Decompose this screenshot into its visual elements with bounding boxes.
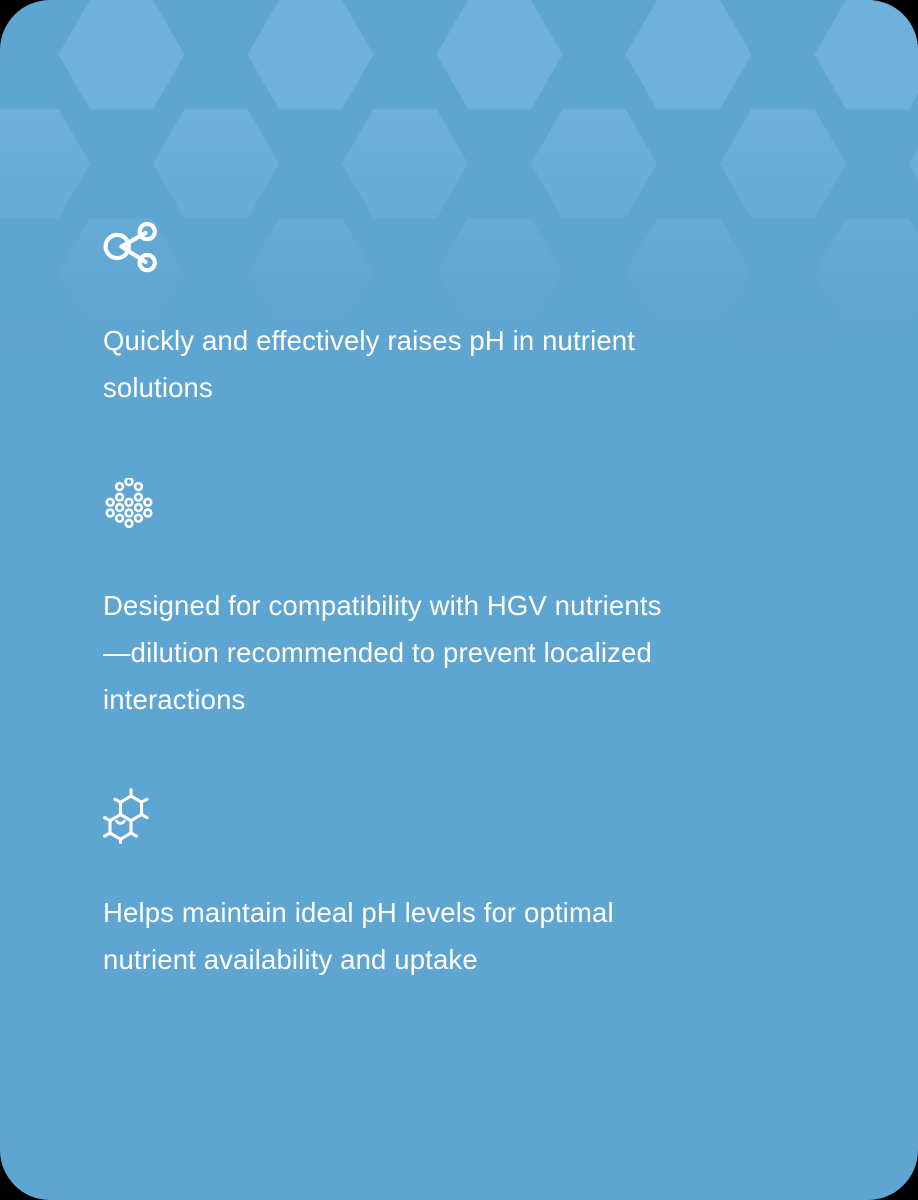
share-nodes-icon xyxy=(103,222,803,278)
feature-card: Quickly and effectively raises pH in nut… xyxy=(0,0,918,1200)
molecule-bonds-icon xyxy=(103,788,803,844)
feature-text-1: Quickly and effectively raises pH in nut… xyxy=(103,317,743,411)
feature-item-1: Quickly and effectively raises pH in nut… xyxy=(103,222,803,411)
feature-text-3: Helps maintain ideal pH levels for optim… xyxy=(103,889,763,983)
feature-item-3: Helps maintain ideal pH levels for optim… xyxy=(103,788,803,983)
feature-list: Quickly and effectively raises pH in nut… xyxy=(0,0,918,1200)
molecule-rings-icon xyxy=(103,478,803,534)
feature-text-2: Designed for compatibility with HGV nutr… xyxy=(103,582,803,723)
feature-item-2: Designed for compatibility with HGV nutr… xyxy=(103,478,803,723)
